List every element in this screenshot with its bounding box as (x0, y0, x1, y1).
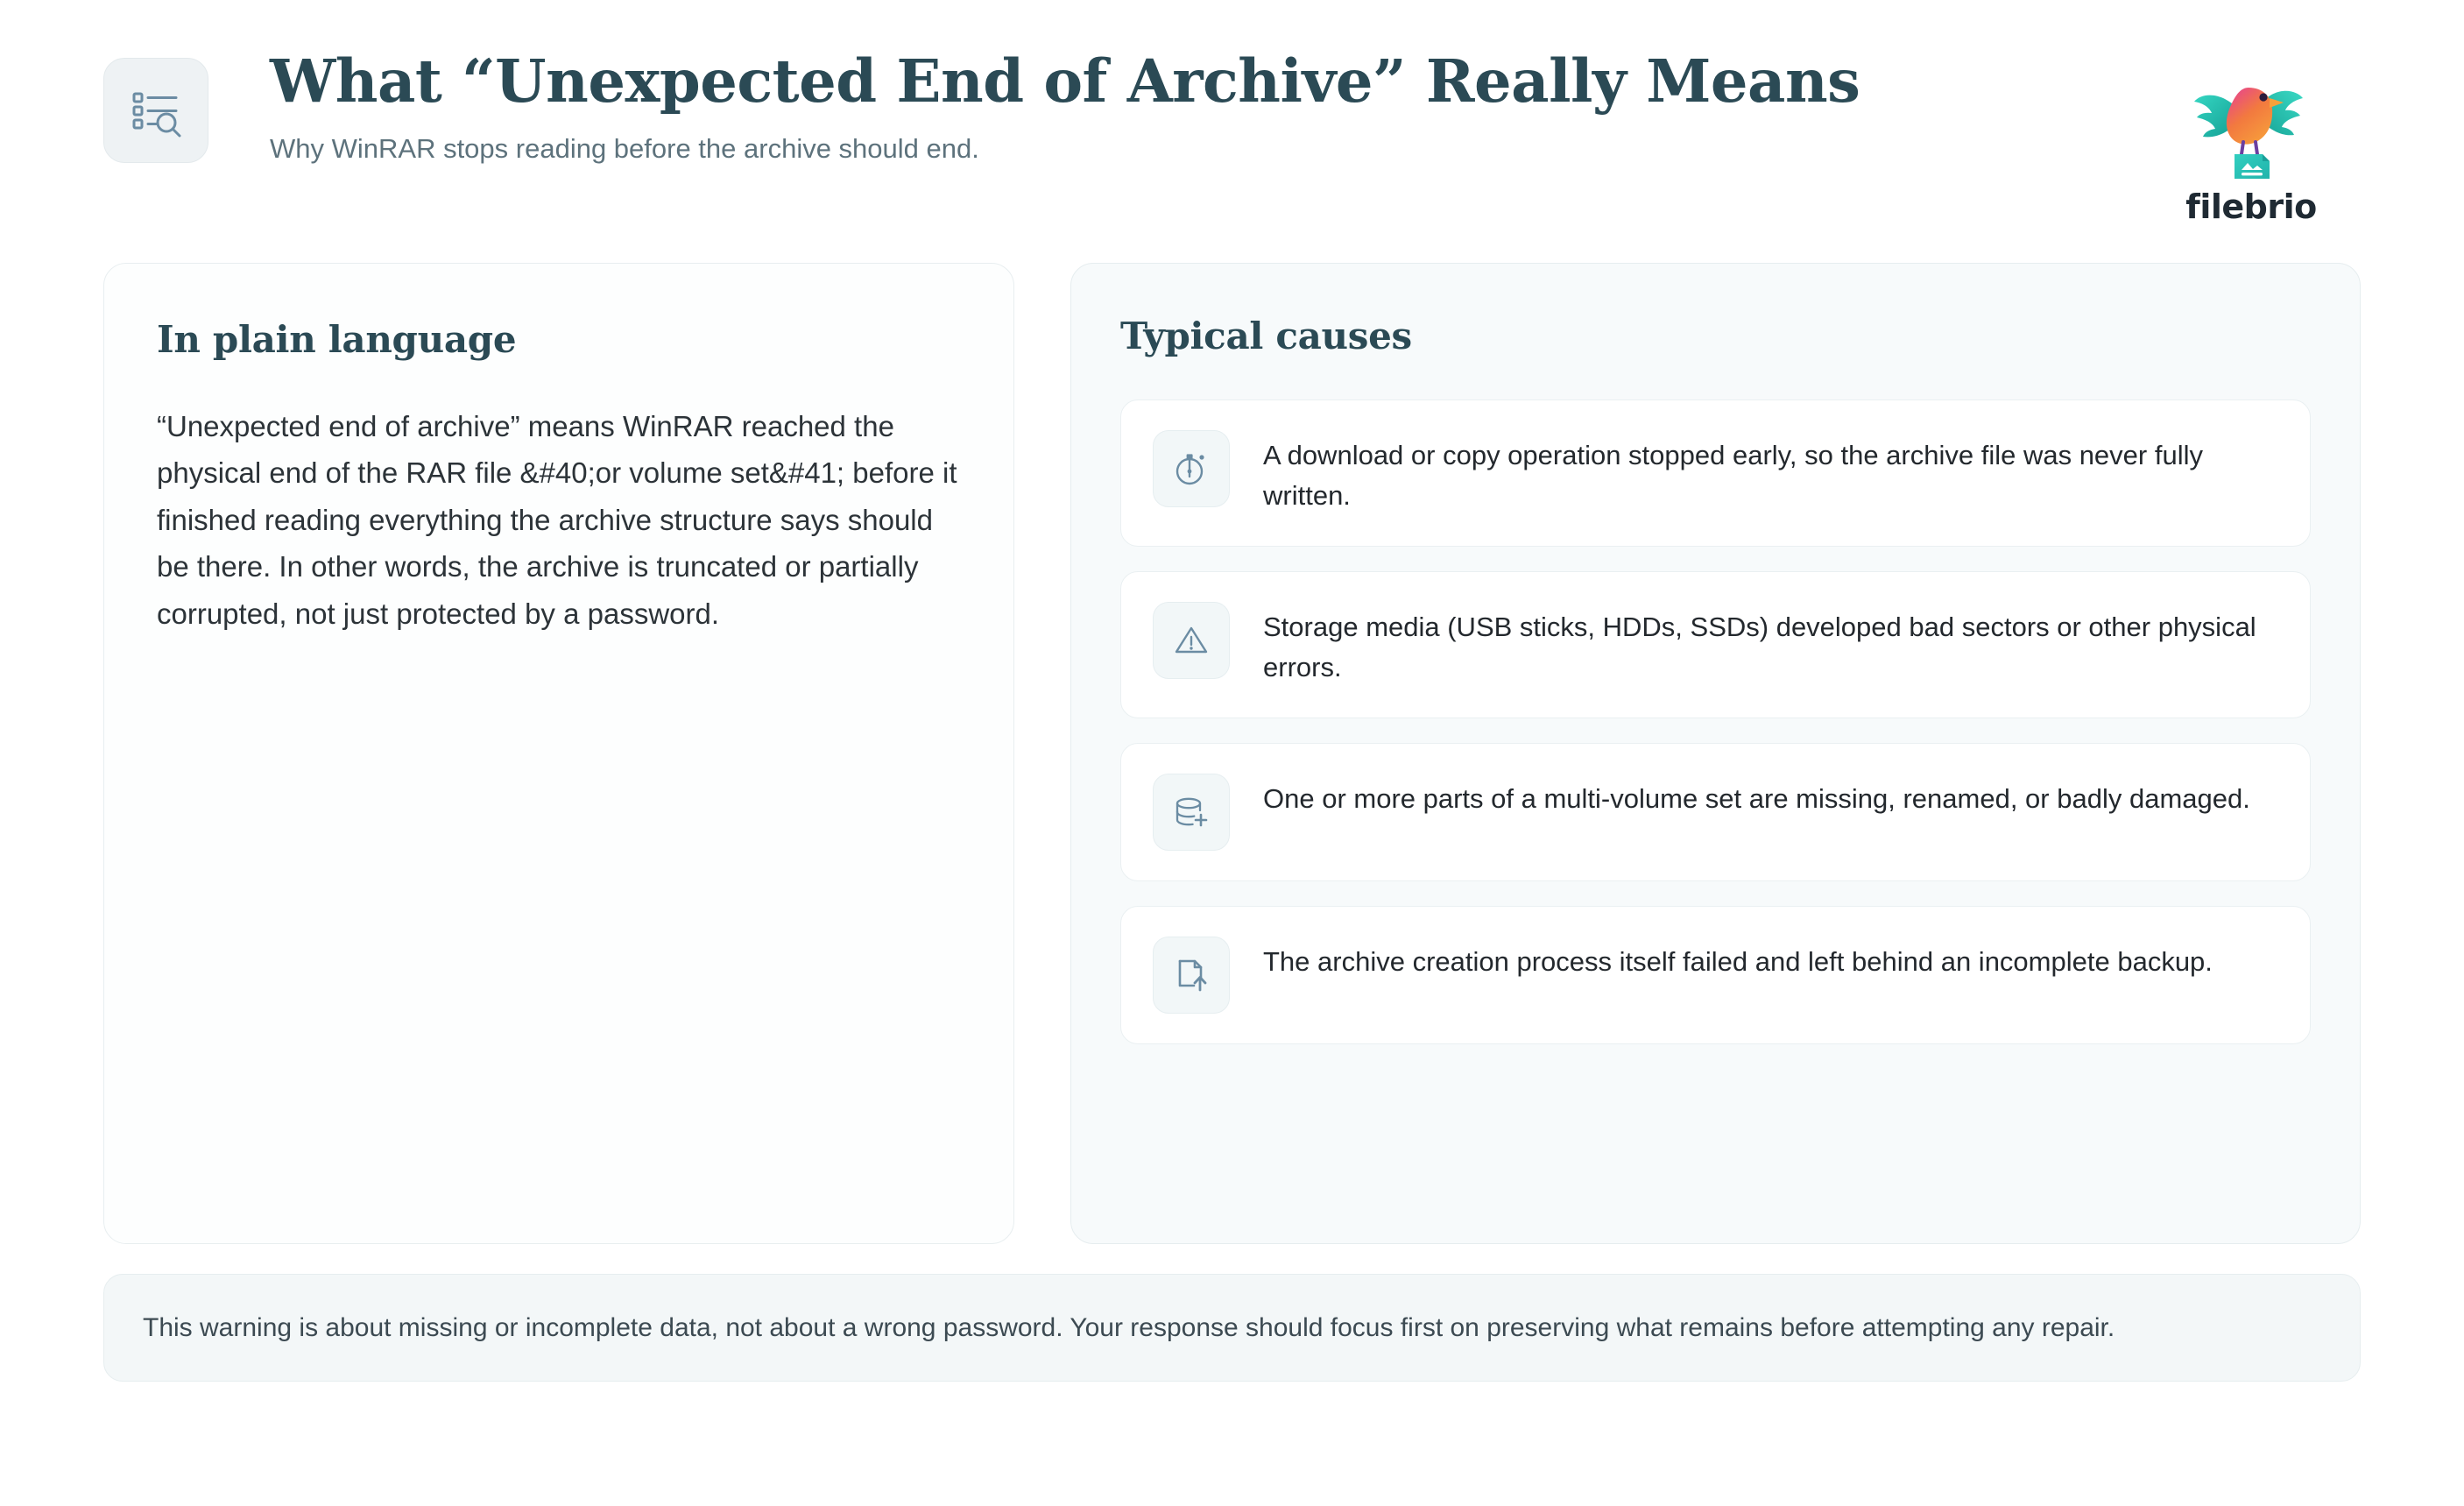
cause-item-text: A download or copy operation stopped ear… (1263, 430, 2278, 516)
cause-item-text: The archive creation process itself fail… (1263, 937, 2213, 982)
typical-causes-card: Typical causes A download or copy (1070, 263, 2361, 1244)
plain-language-heading: In plain language (157, 318, 961, 361)
cause-item: A download or copy operation stopped ear… (1120, 399, 2311, 547)
header-text-block: What “Unexpected End of Archive” Really … (270, 49, 2142, 165)
list-search-icon (103, 58, 208, 163)
file-upload-icon (1153, 937, 1230, 1014)
cause-item: One or more parts of a multi-volume set … (1120, 743, 2311, 881)
infographic-page: What “Unexpected End of Archive” Really … (0, 0, 2464, 1506)
footer-note-text: This warning is about missing or incompl… (143, 1308, 2321, 1347)
stopwatch-icon (1153, 430, 1230, 507)
page-subtitle: Why WinRAR stops reading before the arch… (270, 133, 2142, 165)
page-header: What “Unexpected End of Archive” Really … (103, 0, 2361, 263)
page-title: What “Unexpected End of Archive” Really … (270, 49, 2142, 114)
database-plus-icon (1153, 774, 1230, 851)
plain-language-card: In plain language “Unexpected end of arc… (103, 263, 1014, 1244)
brand-logo: filebrio (2142, 72, 2361, 226)
plain-language-body: “Unexpected end of archive” means WinRAR… (157, 403, 961, 637)
cause-item-text: Storage media (USB sticks, HDDs, SSDs) d… (1263, 602, 2278, 688)
cause-item-text: One or more parts of a multi-volume set … (1263, 774, 2250, 819)
typical-causes-heading: Typical causes (1120, 315, 2311, 357)
warning-triangle-icon (1153, 602, 1230, 679)
cause-item: Storage media (USB sticks, HDDs, SSDs) d… (1120, 571, 2311, 718)
cards-row: In plain language “Unexpected end of arc… (103, 263, 2361, 1244)
footer-note: This warning is about missing or incompl… (103, 1274, 2361, 1382)
cause-item: The archive creation process itself fail… (1120, 906, 2311, 1044)
filebrio-bird-logo (2185, 72, 2317, 184)
causes-list: A download or copy operation stopped ear… (1120, 399, 2311, 1044)
brand-wordmark: filebrio (2185, 187, 2316, 226)
